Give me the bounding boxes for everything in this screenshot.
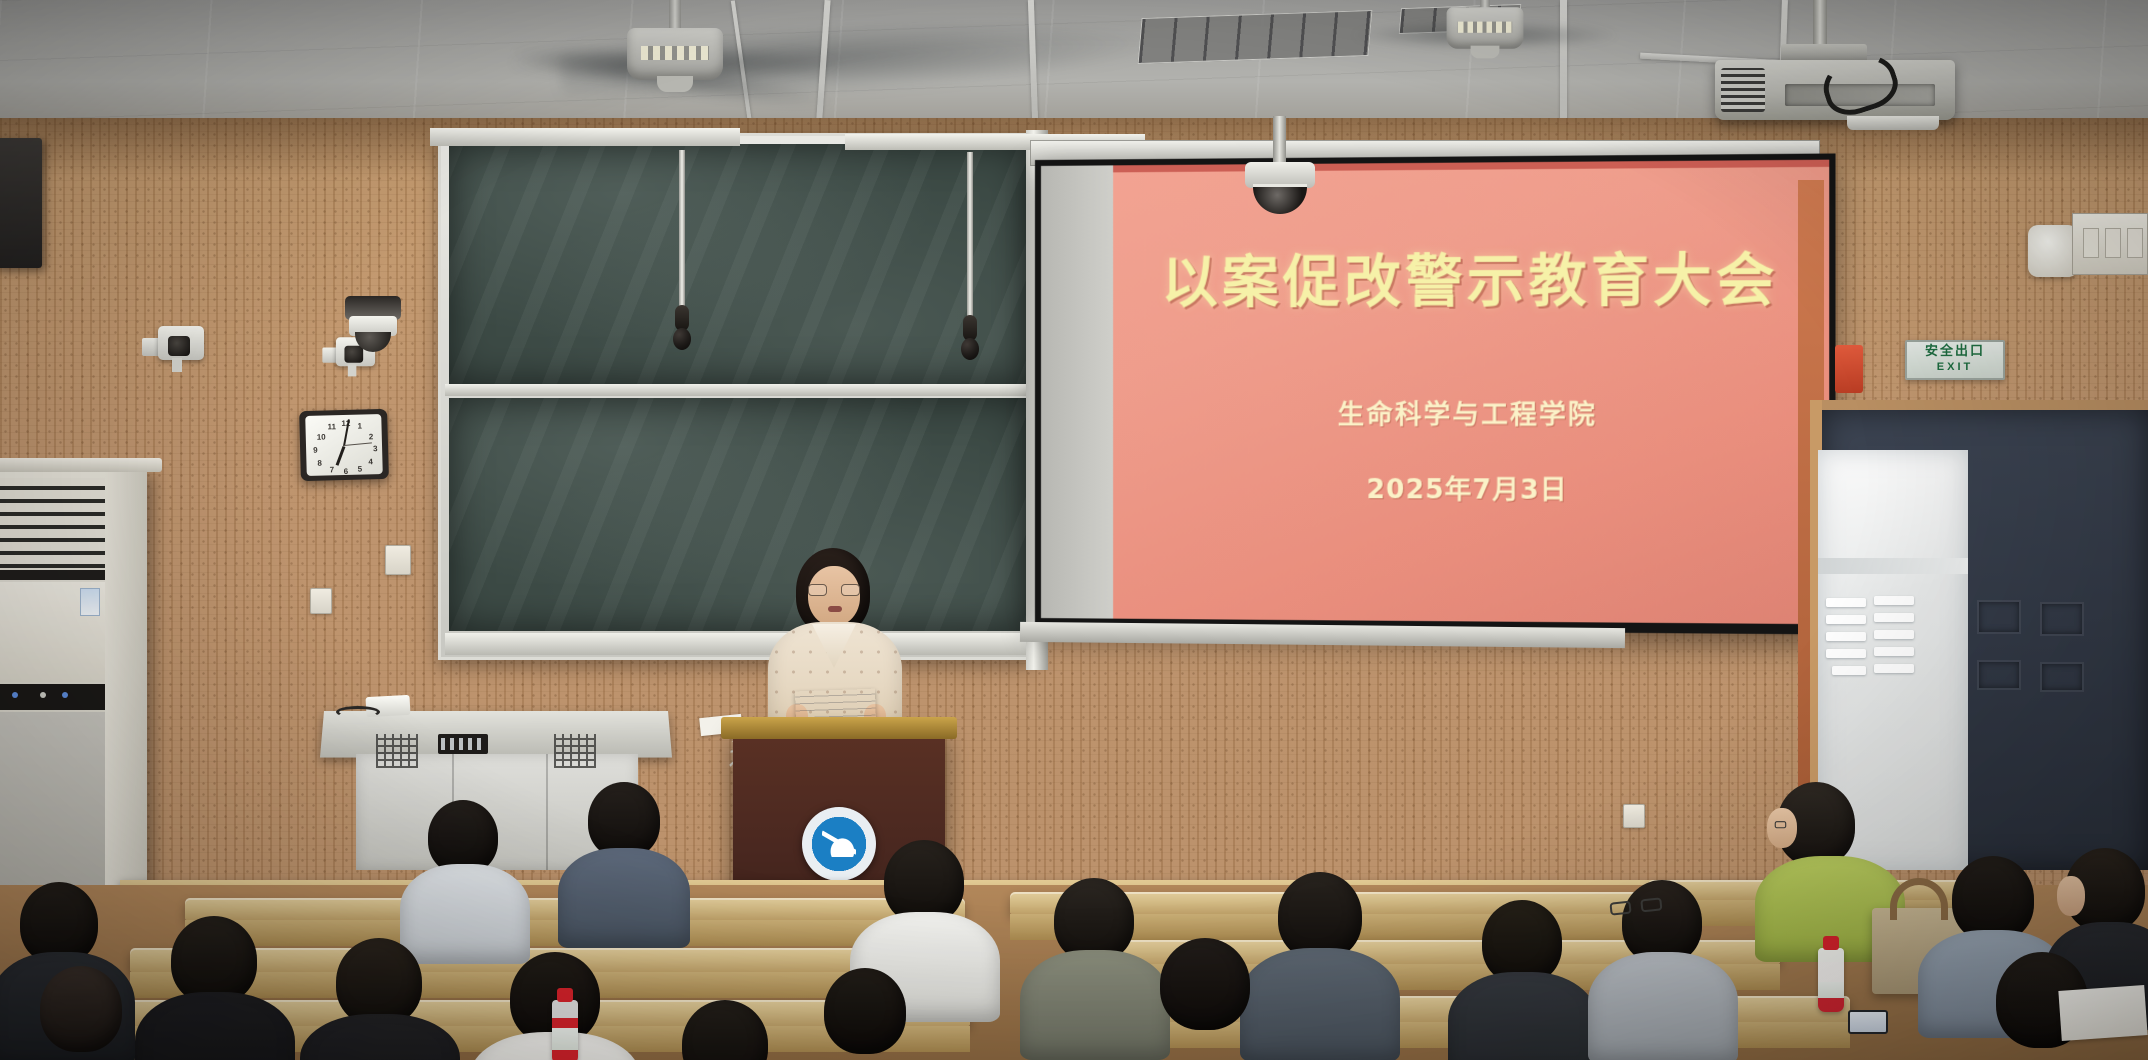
projector [1715,42,1955,120]
mic-wire [967,152,973,320]
fan-hub [657,76,693,92]
bottle-cap [557,988,573,1002]
audience-face-profile [2057,876,2085,916]
door-panel [2040,602,2084,636]
lens-right [841,584,860,596]
breaker-switch[interactable] [2083,228,2099,258]
clock-numeral: 1 [357,422,362,431]
lens-left [1609,901,1631,916]
door-panel [1977,600,2021,634]
breaker-switch[interactable] [2105,228,2121,258]
projector-vent-icon [1721,68,1765,112]
audience-head [40,966,122,1052]
exit-sign-chinese: 安全出口 [1907,342,2003,361]
window-blind-slat [1826,615,1866,624]
audience-member [558,782,690,942]
breaker-switch[interactable] [2127,228,2143,258]
podium-top-ledge [721,717,957,739]
ac-led [12,692,18,698]
audience-member [300,938,460,1060]
ac-brand-strip [0,570,105,580]
blackboard-middle-rail [445,384,1031,396]
audience-torso [1588,952,1738,1060]
audience-torso [558,848,690,948]
fan-hub [1471,46,1500,59]
audience-member [1120,938,1290,1060]
ac-air-louvers [0,478,105,568]
window-transom [1818,558,1968,574]
door-panel [2040,662,2084,692]
window-blind-slat [1874,613,1914,622]
clock-numeral: 7 [330,465,335,474]
paper-notes [2058,985,2147,1041]
ceiling-vent-left [1138,10,1373,64]
eyeglasses-icon [1775,821,1804,829]
security-camera-icon-1 [142,326,206,372]
ac-lower-body [0,712,105,890]
audience-head [1160,938,1250,1030]
clock-numeral: 3 [373,444,378,453]
console-vent-icon-right [554,734,596,768]
blackboard-chalk-tray [445,633,1031,655]
clock-numeral: 4 [368,457,373,466]
ac-display[interactable] [0,684,105,710]
audience-head [682,1000,768,1060]
lens-right [1640,897,1662,912]
exit-sign: 安全出口 EXIT [1905,340,2005,380]
wall-outlet-plate-1[interactable] [385,545,411,575]
console-surface [320,711,672,758]
wall-speaker-box [0,138,42,268]
dome-camera-pole [1273,116,1286,162]
audience-head [588,782,660,858]
red-drink-bottle [552,1000,578,1060]
presenter [760,548,910,738]
bottle-cap [1823,936,1839,950]
blackboard-top-track [430,128,740,146]
audience-head [824,968,906,1054]
ac-led [40,692,46,698]
clock-face: 12 1 2 3 4 5 6 7 8 9 10 11 [305,414,383,476]
door-panel [1977,660,2021,690]
ac-side-panel [105,464,147,890]
exit-sign-english: EXIT [1907,361,2003,373]
lecture-hall-photo: 12 1 2 3 4 5 6 7 8 9 10 11 进发 [0,0,2148,1060]
slide-date: 2025年7月3日 [1113,468,1829,508]
audience-head [171,916,257,1004]
camera-arm [172,358,182,372]
fire-alarm-device[interactable] [1835,345,1863,393]
wall-clock: 12 1 2 3 4 5 6 7 8 9 10 11 [299,409,389,481]
eyeglasses-icon [808,584,860,596]
presenter-face [808,566,860,626]
clock-numeral: 5 [358,465,363,474]
console-vent-icon-left [376,734,418,768]
wall-outlet-plate-2[interactable] [310,588,332,614]
window-blind-slat [1874,630,1914,639]
clock-numeral: 2 [369,432,374,441]
audience-torso [1448,972,1598,1060]
console-seam [546,754,548,870]
audience-member [400,800,530,960]
blackboard: 进发 [438,133,1038,660]
fan-motor [627,28,723,80]
presentation-slide: 以案促改警示教育大会 生命科学与工程学院 2025年7月3日 [1113,160,1829,625]
clock-second-hand [344,442,372,446]
window-blind-slat [1832,666,1866,675]
audience-head [336,938,422,1026]
audience-member [648,1000,808,1060]
window-blind-slat [1874,647,1914,656]
window-blind-slat [1826,598,1866,607]
mic-head [673,328,691,350]
blackboard-lower-panel: 进发 [449,398,1027,631]
smoke-detector-icon [2028,225,2078,277]
window-blind-slat [1874,664,1914,673]
wall-outlet-plate-3[interactable] [1623,804,1645,828]
audience-member [1448,900,1598,1060]
window-blind-slat [1874,596,1914,605]
projector-pole [1813,0,1827,46]
lens-left [808,584,827,596]
air-conditioner [0,470,147,890]
projection-screen: 以案促改警示教育大会 生命科学与工程学院 2025年7月3日 [1035,153,1836,634]
bottle-label [552,1028,578,1050]
clock-numeral: 6 [344,467,349,476]
mic-head [961,338,979,360]
smartphone[interactable] [1848,1010,1888,1034]
ptz-dome [355,332,391,352]
ac-top-cap [0,458,162,472]
projector-lens [1847,116,1939,130]
clock-hour-hand [336,446,346,466]
ac-led [62,692,68,698]
ceiling-fan-right [1365,0,1605,60]
clock-numeral: 11 [327,422,336,431]
console-control-panel[interactable] [438,734,488,754]
lens-left [1775,821,1787,828]
audience-torso [300,1014,460,1060]
screen-unlit-margin [1041,165,1113,618]
audience-head [1278,872,1362,960]
clock-numeral: 9 [313,446,318,455]
clock-numeral: 8 [317,459,322,468]
audience-member [10,966,160,1060]
audience-head [428,800,498,874]
blackboard-upper-panel [449,144,1027,384]
camera-lens [168,336,190,356]
camera-arm [348,365,357,377]
clock-numeral: 10 [317,432,326,441]
security-camera-icon-3 [345,296,401,352]
ac-energy-label [80,588,100,616]
presenter-mouth [828,606,842,612]
slide-title: 以案促改警示教育大会 [1113,234,1829,319]
fan-motor [1447,7,1524,49]
mic-wire [679,150,685,310]
window-blind-slat [1826,632,1866,641]
console-cable [336,706,380,718]
breaker-box [2072,213,2148,275]
water-bottle [1818,948,1844,1012]
bottle-label [1818,982,1844,998]
window-blind-slat [1826,649,1866,658]
slide-subtitle: 生命科学与工程学院 [1113,394,1829,432]
ceiling-fan-left [510,0,840,104]
audience-member [790,968,940,1060]
